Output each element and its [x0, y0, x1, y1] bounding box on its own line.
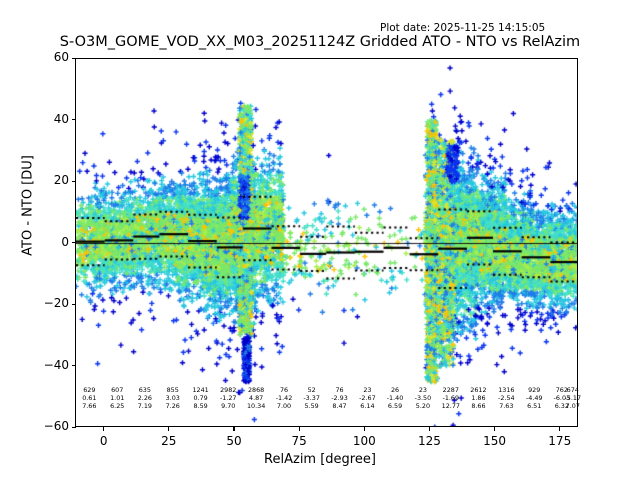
plot-date-label: Plot date: 2025-11-25 14:15:05 [380, 22, 610, 34]
scatter-canvas [76, 59, 578, 427]
bin-stat-stddev: 7.07 [556, 402, 590, 410]
x-tick-label: 150 [473, 434, 517, 448]
figure-canvas: Plot date: 2025-11-25 14:15:05 S-O3M_GOM… [0, 0, 640, 480]
plot-axes-area [75, 58, 578, 427]
x-tick-mark [429, 427, 430, 431]
x-tick-label: 125 [407, 434, 451, 448]
x-tick-mark [233, 427, 234, 431]
plot-title: S-O3M_GOME_VOD_XX_M03_20251124Z Gridded … [0, 34, 640, 50]
y-tick-label: −60 [23, 419, 69, 433]
x-tick-mark [103, 427, 104, 431]
bin-stat-count: 674 [556, 386, 590, 394]
x-tick-mark [559, 427, 560, 431]
x-tick-label: 50 [212, 434, 256, 448]
bin-stat-mean: -5.17 [556, 394, 590, 402]
x-axis-label: RelAzim [degree] [0, 452, 640, 467]
x-tick-label: 100 [342, 434, 386, 448]
x-tick-mark [364, 427, 365, 431]
x-tick-mark [299, 427, 300, 431]
x-tick-label: 25 [147, 434, 191, 448]
x-tick-label: 0 [82, 434, 126, 448]
x-tick-label: 175 [538, 434, 582, 448]
x-tick-mark [494, 427, 495, 431]
x-tick-mark [168, 427, 169, 431]
y-axis-label: ATO - NTO [DU] [21, 26, 36, 386]
x-tick-label: 75 [277, 434, 321, 448]
